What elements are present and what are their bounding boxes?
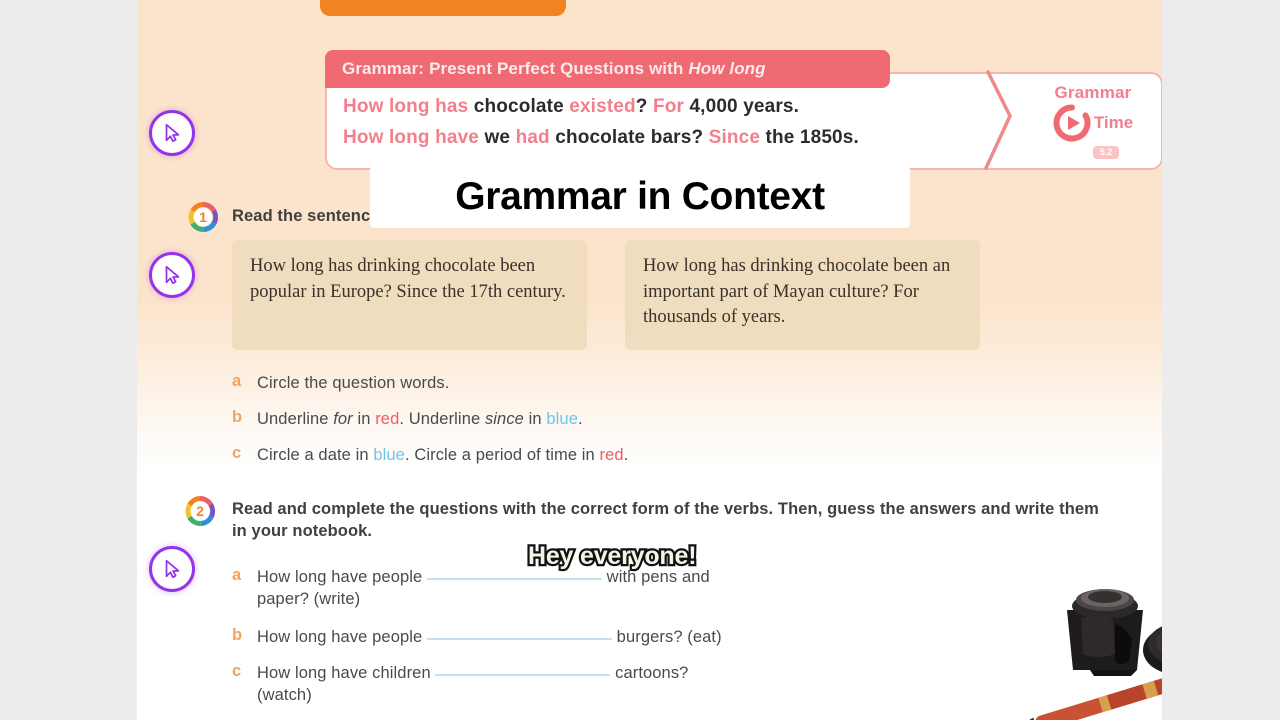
ex2-object: chocolate bars?: [555, 127, 703, 148]
ex1-answer: 4,000 years.: [689, 96, 799, 117]
b-p4: . Underline: [399, 410, 485, 428]
b-p2: in: [353, 410, 375, 428]
item-letter-b: b: [232, 408, 250, 427]
sentence-card-2: How long has drinking chocolate been an …: [625, 240, 980, 350]
item2-letter-b: b: [232, 626, 250, 645]
screen-root: Grammar: Present Perfect Questions with …: [0, 0, 1280, 720]
video-caption-overlay: Hey everyone!: [528, 542, 696, 571]
grammar-time-line2: Time: [1094, 114, 1133, 131]
exercise-1-item-c: c Circle a date in blue. Circle a period…: [232, 444, 852, 466]
grammar-label: Grammar:: [342, 59, 424, 79]
ex2-subject: we: [484, 127, 510, 148]
c-p2: . Circle a period of time in: [405, 446, 600, 464]
ex1-prep: For: [653, 96, 684, 117]
play-circle-icon: [1053, 104, 1091, 142]
answer-blank-2b[interactable]: [427, 638, 612, 640]
cursor-pointer-icon-2[interactable]: [149, 252, 195, 298]
item2-c-line2: (watch): [257, 686, 312, 704]
item-a-text: Circle the question words.: [257, 372, 852, 394]
ex1-qword: How long has: [343, 96, 468, 117]
grammar-topic-italic: How long: [688, 59, 765, 79]
answer-blank-2a[interactable]: [427, 578, 602, 580]
item2-letter-a: a: [232, 566, 250, 585]
answer-blank-2c[interactable]: [435, 674, 610, 676]
exercise-2-instruction: Read and complete the questions with the…: [232, 499, 1102, 543]
grammar-topic: Present Perfect Questions with: [429, 59, 683, 79]
orange-tab: [320, 0, 566, 16]
exercise-2-item-b: b How long have people burgers? (eat): [232, 626, 992, 648]
cursor-icon: [161, 558, 183, 580]
item2-c-text: How long have children cartoons? (watch): [257, 662, 992, 707]
b-p5: since: [485, 410, 524, 428]
item2-b-before: How long have people: [257, 628, 422, 646]
c-p0: Circle a date in: [257, 446, 373, 464]
cursor-pointer-icon-3[interactable]: [149, 546, 195, 592]
ex1-subject: chocolate: [474, 96, 564, 117]
exercise-2-item-c: c How long have children cartoons? (watc…: [232, 662, 992, 707]
cursor-icon: [161, 264, 183, 286]
exercise-2-number-badge: 2: [185, 496, 215, 526]
ex2-answer: the 1850s.: [766, 127, 859, 148]
c-p3: red: [600, 446, 624, 464]
chevron-divider-icon: [980, 70, 1024, 170]
item-b-text: Underline for in red. Underline since in…: [257, 408, 852, 430]
ex2-qword: How long have: [343, 127, 479, 148]
exercise-1-number: 1: [188, 202, 218, 232]
exercise-1-item-b: b Underline for in red. Underline since …: [232, 408, 852, 430]
b-p6: in: [524, 410, 546, 428]
item2-a-before: How long have people: [257, 568, 422, 586]
grammar-box: Grammar: Present Perfect Questions with …: [325, 50, 1162, 170]
c-p1: blue: [373, 446, 405, 464]
exercise-2-number: 2: [185, 496, 215, 526]
exercise-1-number-badge: 1: [188, 202, 218, 232]
item-letter-c: c: [232, 444, 250, 463]
item2-c-before: How long have children: [257, 664, 431, 682]
grammar-time-line1: Grammar: [1055, 84, 1132, 101]
ex2-verb: had: [516, 127, 550, 148]
item2-c-after: cartoons?: [615, 664, 688, 682]
c-p4: .: [624, 446, 629, 464]
grammar-box-header: Grammar: Present Perfect Questions with …: [325, 50, 890, 88]
item2-a-text: How long have people with pens and paper…: [257, 566, 952, 611]
b-p7: blue: [546, 410, 578, 428]
item2-b-after: burgers? (eat): [617, 628, 722, 646]
grammar-example-2: How long have we had chocolate bars? Sin…: [343, 127, 859, 149]
grammar-time-row: Time: [1053, 104, 1133, 142]
ex1-verb: existed: [569, 96, 636, 117]
item-c-text: Circle a date in blue. Circle a period o…: [257, 444, 852, 466]
exercise-2-item-a: a How long have people with pens and pap…: [232, 566, 952, 611]
item2-a-line2: paper? (write): [257, 590, 360, 608]
b-p0: Underline: [257, 410, 333, 428]
b-p3: red: [375, 410, 399, 428]
exercise-1-item-a: a Circle the question words.: [232, 372, 852, 394]
item2-letter-c: c: [232, 662, 250, 681]
b-p1: for: [333, 410, 353, 428]
cursor-icon: [161, 122, 183, 144]
ex1-qmark: ?: [636, 96, 648, 117]
item2-b-text: How long have people burgers? (eat): [257, 626, 992, 648]
sentence-card-1: How long has drinking chocolate been pop…: [232, 240, 587, 350]
video-title-overlay: Grammar in Context: [370, 166, 910, 228]
grammar-time-badge[interactable]: Grammar Time 5.2: [1025, 78, 1161, 164]
grammar-time-unit-badge: 5.2: [1093, 146, 1120, 159]
grammar-example-1: How long has chocolate existed? For 4,00…: [343, 96, 799, 118]
exercise-2-instruction-line1: Read and complete the questions with the…: [232, 500, 875, 518]
cursor-pointer-icon-1[interactable]: [149, 110, 195, 156]
ex2-prep: Since: [709, 127, 760, 148]
item-letter-a: a: [232, 372, 250, 391]
b-p8: .: [578, 410, 583, 428]
textbook-page: Grammar: Present Perfect Questions with …: [137, 0, 1162, 720]
ink-bottle-and-pen-photo: [995, 558, 1162, 720]
